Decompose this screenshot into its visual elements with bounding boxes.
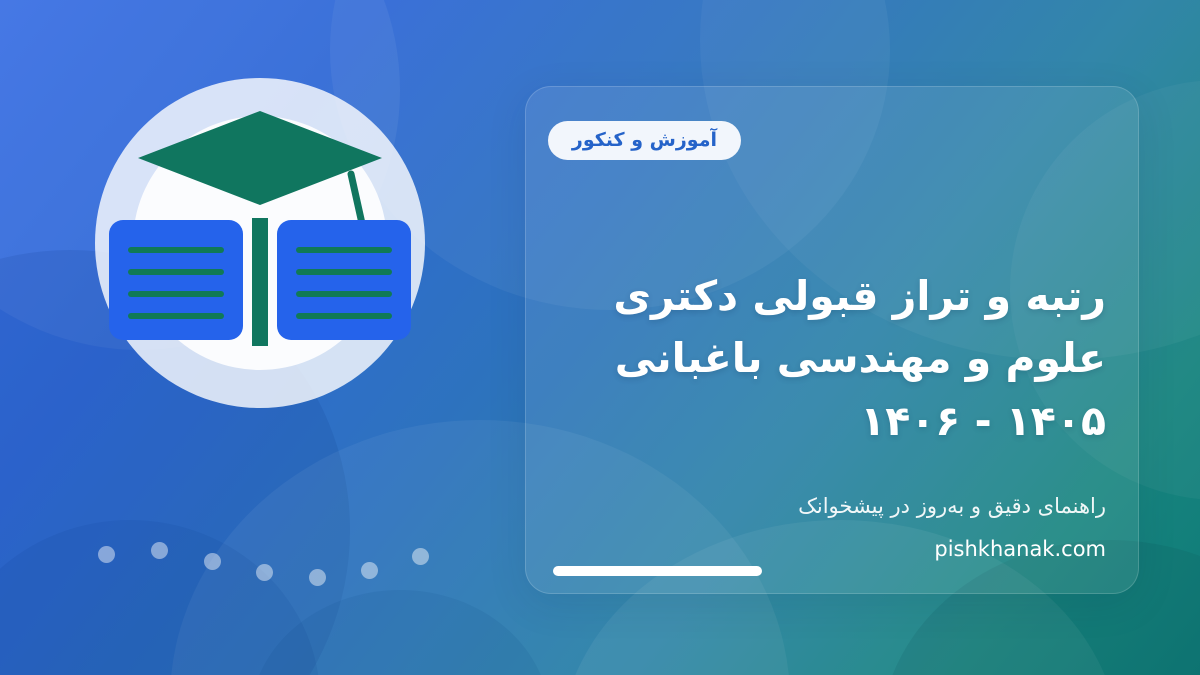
decorative-dot [412, 548, 429, 565]
page-title-line: علوم و مهندسی باغبانی [558, 327, 1106, 389]
open-book-spine [252, 218, 268, 346]
decorative-dot [361, 562, 378, 579]
accent-bar [553, 566, 762, 576]
site-url: pishkhanak.com [558, 537, 1106, 561]
page-title-line: ۱۴۰۵ - ۱۴۰۶ [558, 390, 1106, 452]
emblem-outer-ring [95, 78, 425, 408]
page-subtitle: راهنمای دقیق و به‌روز در پیشخوانک [558, 491, 1106, 523]
page-title: رتبه و تراز قبولی دکتری علوم و مهندسی با… [558, 265, 1106, 452]
decorative-dot [256, 564, 273, 581]
decorative-dot [151, 542, 168, 559]
category-badge[interactable]: آموزش و کنکور [548, 121, 741, 160]
decorative-dot [204, 553, 221, 570]
graduation-cap-icon [138, 111, 382, 205]
content-panel: آموزش و کنکور رتبه و تراز قبولی دکتری عل… [525, 86, 1139, 594]
open-book-right-page [277, 220, 411, 340]
decorative-dot [309, 569, 326, 586]
page-title-line: رتبه و تراز قبولی دکتری [558, 265, 1106, 327]
decorative-dot [98, 546, 115, 563]
cover-canvas: آموزش و کنکور رتبه و تراز قبولی دکتری عل… [0, 0, 1200, 675]
graduation-cap-and-open-book-icon [95, 78, 425, 408]
open-book-left-page [109, 220, 243, 340]
background-blob [0, 520, 320, 675]
background-blob [250, 590, 550, 675]
